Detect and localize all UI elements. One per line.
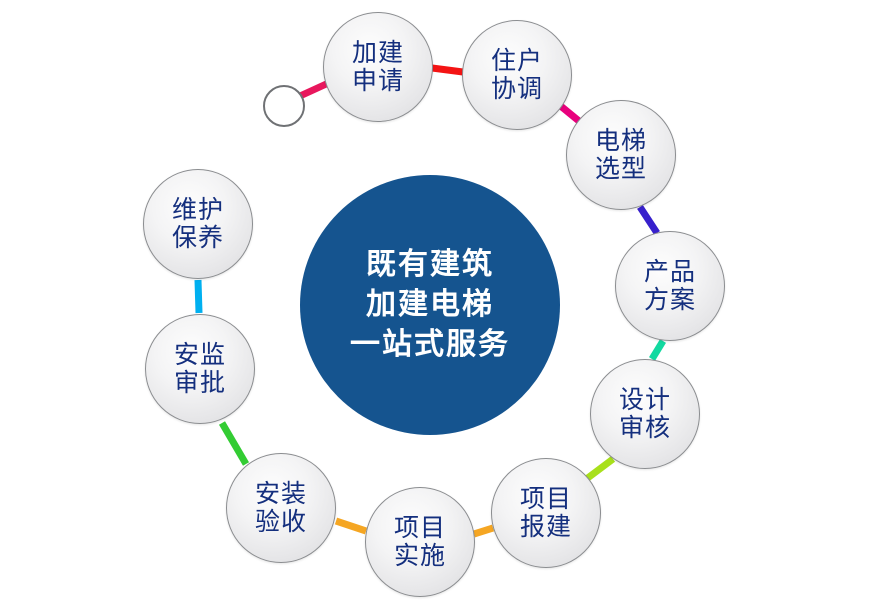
step-dianti-xuanxing-label-line-1: 电梯 [595, 127, 647, 155]
step-anzhuang-yanshou-label-line-1: 安装 [255, 480, 307, 508]
step-zhuhu-xietiao-label-line-1: 住户 [491, 47, 543, 75]
step-jiajian-shenqing-label-line-2: 申请 [352, 67, 404, 95]
step-xiangmu-baojian-label-line-2: 报建 [520, 513, 572, 541]
connector-9-to-10 [198, 280, 199, 313]
step-dianti-xuanxing[interactable]: 电梯选型 [566, 100, 676, 210]
step-weihu-baoyang-label-line-1: 维护 [172, 196, 224, 224]
connector-4-to-5 [652, 341, 663, 359]
step-dianti-xuanxing-label-line-2: 选型 [595, 155, 647, 183]
connector-1-to-2 [432, 68, 463, 72]
step-anzhuang-yanshou[interactable]: 安装验收 [226, 453, 336, 563]
step-chanpin-fangan-label-line-2: 方案 [644, 286, 696, 314]
connector-5-to-6 [585, 459, 613, 480]
step-zhuhu-xietiao-label-line-2: 协调 [491, 75, 543, 103]
step-sheji-shenhe[interactable]: 设计审核 [590, 359, 700, 469]
step-xiangmu-shishi[interactable]: 项目实施 [365, 487, 475, 597]
step-sheji-shenhe-label-line-2: 审核 [619, 414, 671, 442]
process-diagram: 加建申请住户协调电梯选型产品方案设计审核项目报建项目实施安装验收安监审批维护保养… [0, 0, 884, 612]
hub-label-line-3: 一站式服务 [350, 325, 510, 365]
connector-7-to-8 [336, 521, 366, 531]
step-xiangmu-shishi-label-line-1: 项目 [394, 514, 446, 542]
step-xiangmu-shishi-label-line-2: 实施 [394, 542, 446, 570]
hub-label-line-1: 既有建筑 [366, 245, 494, 285]
step-jiajian-shenqing-label-line-1: 加建 [352, 39, 404, 67]
connector-8-to-9 [222, 423, 246, 464]
step-jiajian-shenqing[interactable]: 加建申请 [323, 12, 433, 122]
step-zhuhu-xietiao[interactable]: 住户协调 [462, 20, 572, 130]
start-marker [263, 85, 305, 127]
step-anjian-shenpi-label-line-1: 安监 [174, 341, 226, 369]
step-xiangmu-baojian-label-line-1: 项目 [520, 485, 572, 513]
step-chanpin-fangan[interactable]: 产品方案 [615, 231, 725, 341]
step-weihu-baoyang-label-line-2: 保养 [172, 224, 224, 252]
connector-3-to-4 [640, 207, 657, 233]
hub: 既有建筑加建电梯一站式服务 [300, 175, 560, 435]
step-xiangmu-baojian[interactable]: 项目报建 [491, 458, 601, 568]
step-sheji-shenhe-label-line-1: 设计 [619, 386, 671, 414]
connector-6-to-7 [474, 528, 493, 534]
hub-label-line-2: 加建电梯 [366, 285, 494, 325]
step-anjian-shenpi-label-line-2: 审批 [174, 369, 226, 397]
step-chanpin-fangan-label-line-1: 产品 [644, 258, 696, 286]
step-weihu-baoyang[interactable]: 维护保养 [143, 169, 253, 279]
step-anjian-shenpi[interactable]: 安监审批 [145, 314, 255, 424]
step-anzhuang-yanshou-label-line-2: 验收 [255, 508, 307, 536]
